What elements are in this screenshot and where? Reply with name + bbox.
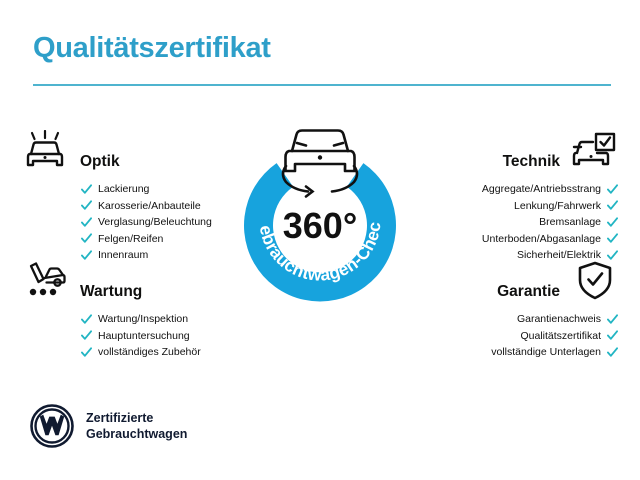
check-icon	[81, 233, 92, 244]
check-icon	[81, 184, 92, 195]
list-item: Hauptuntersuchung	[22, 328, 237, 345]
car-checkbox-icon	[572, 130, 618, 172]
car-shine-icon	[22, 130, 68, 172]
check-icon	[607, 184, 618, 195]
check-icon	[81, 217, 92, 228]
pen-car-service-icon	[22, 260, 68, 302]
list-item: Qualitätszertifikat	[403, 328, 618, 345]
list-item-label: vollständige Unterlagen	[491, 344, 601, 361]
checklist: Aggregate/Antriebsstrang Lenkung/Fahrwer…	[403, 181, 618, 264]
list-item-label: Lackierung	[98, 181, 149, 198]
section-technik: Technik Aggregate/Antriebsstrang Lenkung…	[403, 126, 618, 264]
footer-line-2: Gebrauchtwagen	[86, 427, 187, 441]
list-item-label: Hauptuntersuchung	[98, 328, 190, 345]
list-item-label: Bremsanlage	[539, 214, 601, 231]
volkswagen-logo-icon	[30, 404, 74, 448]
list-item-label: Aggregate/Antriebsstrang	[482, 181, 601, 198]
check-icon	[607, 233, 618, 244]
list-item: Felgen/Reifen	[22, 231, 237, 248]
badge-center-label: 360°	[283, 205, 357, 246]
list-item: Garantienachweis	[403, 311, 618, 328]
page-title: Qualitätszertifikat	[33, 32, 271, 65]
footer-branding: Zertifizierte Gebrauchtwagen	[30, 404, 187, 448]
gebrauchtwagen-check-badge: Gebrauchtwagen-Check 360°	[228, 112, 412, 308]
checklist: Garantienachweis Qualitätszertifikat vol…	[403, 311, 618, 361]
section-garantie: Garantie Garantienachweis Qualitätszerti…	[403, 256, 618, 361]
check-icon	[81, 330, 92, 341]
list-item: Unterboden/Abgasanlage	[403, 231, 618, 248]
list-item-label: vollständiges Zubehör	[98, 344, 201, 361]
list-item: vollständige Unterlagen	[403, 344, 618, 361]
section-title: Optik	[80, 153, 120, 170]
list-item: Bremsanlage	[403, 214, 618, 231]
list-item: Lenkung/Fahrwerk	[403, 198, 618, 215]
list-item: Lackierung	[22, 181, 237, 198]
header-divider	[33, 84, 611, 86]
check-icon	[607, 330, 618, 341]
footer-line-1: Zertifizierte	[86, 411, 153, 425]
footer-brand-text: Zertifizierte Gebrauchtwagen	[86, 410, 187, 442]
list-item: Verglasung/Beleuchtung	[22, 214, 237, 231]
section-title: Wartung	[80, 283, 142, 300]
list-item-label: Verglasung/Beleuchtung	[98, 214, 212, 231]
check-icon	[607, 217, 618, 228]
list-item-label: Unterboden/Abgasanlage	[482, 231, 601, 248]
list-item-label: Lenkung/Fahrwerk	[514, 198, 601, 215]
checklist: Wartung/Inspektion Hauptuntersuchung vol…	[22, 311, 237, 361]
section-title: Technik	[503, 153, 560, 170]
list-item: Wartung/Inspektion	[22, 311, 237, 328]
list-item-label: Felgen/Reifen	[98, 231, 163, 248]
check-icon	[81, 200, 92, 211]
list-item: Aggregate/Antriebsstrang	[403, 181, 618, 198]
section-wartung: Wartung Wartung/Inspektion Hauptuntersuc…	[22, 256, 237, 361]
check-icon	[81, 314, 92, 325]
check-icon	[607, 314, 618, 325]
section-optik: Optik Lackierung Karosserie/Anbauteile	[22, 126, 237, 264]
section-title: Garantie	[497, 283, 560, 300]
list-item-label: Garantienachweis	[517, 311, 601, 328]
shield-check-icon	[572, 260, 618, 302]
check-icon	[81, 347, 92, 358]
checklist: Lackierung Karosserie/Anbauteile Verglas…	[22, 181, 237, 264]
car-rotate-360-icon	[286, 131, 355, 172]
list-item: vollständiges Zubehör	[22, 344, 237, 361]
list-item-label: Qualitätszertifikat	[520, 328, 601, 345]
list-item: Karosserie/Anbauteile	[22, 198, 237, 215]
list-item-label: Wartung/Inspektion	[98, 311, 188, 328]
certificate-page: Qualitätszertifikat	[0, 0, 640, 480]
list-item-label: Karosserie/Anbauteile	[98, 198, 201, 215]
check-icon	[607, 347, 618, 358]
check-icon	[607, 200, 618, 211]
